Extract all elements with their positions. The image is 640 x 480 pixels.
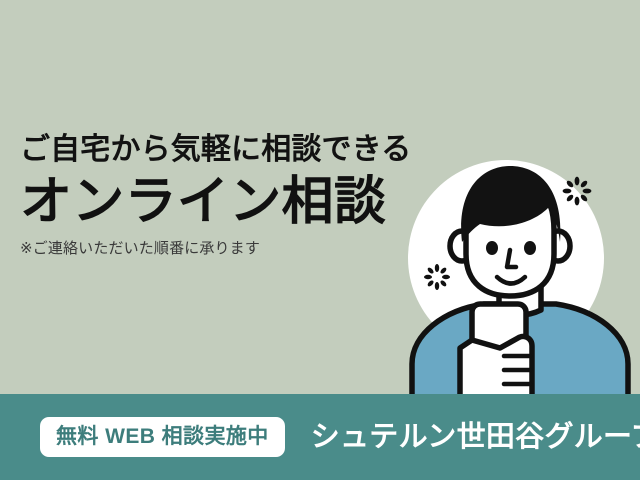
- sparkle-icon-top-right: [563, 177, 592, 206]
- sparkle-icon-mid-left: [424, 264, 450, 290]
- disclaimer-note: ※ご連絡いただいた順番に承ります: [20, 239, 440, 259]
- left-eye: [486, 241, 498, 255]
- person-illustration: [400, 150, 640, 400]
- bottom-bar: 無料 WEB 相談実施中 シュテルン世田谷グループ: [0, 394, 640, 480]
- person-illustration-svg: [400, 150, 640, 400]
- headline-subtitle: ご自宅から気軽に相談できる: [20, 132, 440, 169]
- copy-block: ご自宅から気軽に相談できる オンライン相談 ※ご連絡いただいた順番に承ります: [20, 132, 440, 258]
- free-web-consultation-badge[interactable]: 無料 WEB 相談実施中: [40, 417, 285, 457]
- company-group-name: シュテルン世田谷グループ: [311, 423, 640, 452]
- right-eye: [524, 241, 536, 255]
- promo-banner: ご自宅から気軽に相談できる オンライン相談 ※ご連絡いただいた順番に承ります: [0, 0, 640, 480]
- headline-title: オンライン相談: [20, 173, 440, 231]
